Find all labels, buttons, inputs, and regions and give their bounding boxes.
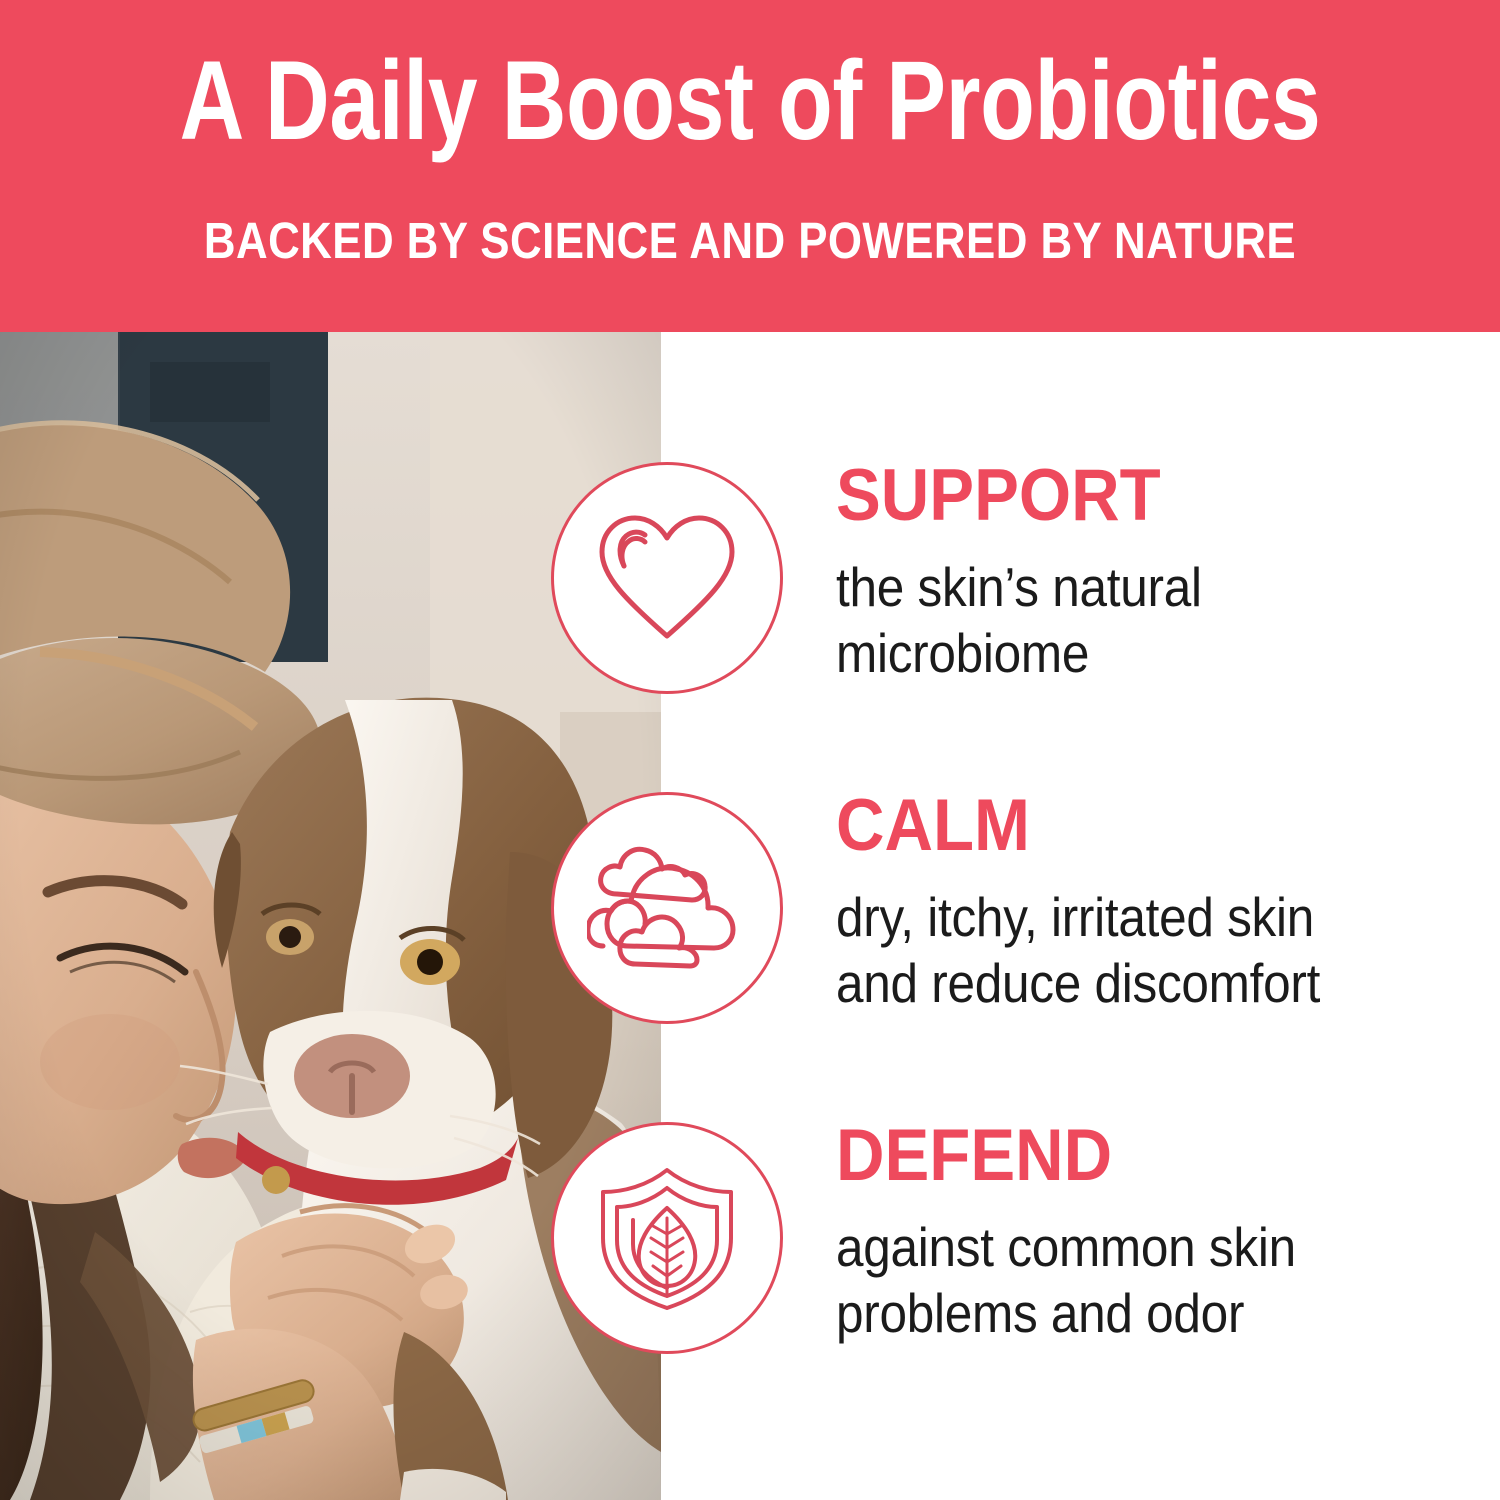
- benefit-text-calm: CALM dry, itchy, irritated skin and redu…: [836, 786, 1476, 1016]
- benefit-row-calm: CALM dry, itchy, irritated skin and redu…: [0, 786, 1500, 1036]
- benefit-row-support: SUPPORT the skin’s natural microbiome: [0, 456, 1500, 706]
- heart-icon-badge: [551, 462, 783, 694]
- page-subtitle: BACKED BY SCIENCE AND POWERED BY NATURE: [105, 212, 1395, 270]
- benefit-row-defend: DEFEND against common skin problems and …: [0, 1116, 1500, 1366]
- benefit-text-support: SUPPORT the skin’s natural microbiome: [836, 456, 1476, 686]
- probiotics-benefits-poster: A Daily Boost of Probiotics BACKED BY SC…: [0, 0, 1500, 1500]
- benefit-body-support: the skin’s natural microbiome: [836, 554, 1412, 686]
- benefit-heading-support: SUPPORT: [836, 456, 1425, 536]
- clouds-icon-badge: [551, 792, 783, 1024]
- benefit-body-defend: against common skin problems and odor: [836, 1214, 1412, 1346]
- shield-leaf-icon-badge: [551, 1122, 783, 1354]
- benefit-heading-calm: CALM: [836, 786, 1425, 866]
- benefit-body-calm: dry, itchy, irritated skin and reduce di…: [836, 884, 1412, 1016]
- header-banner: A Daily Boost of Probiotics BACKED BY SC…: [0, 0, 1500, 332]
- page-title: A Daily Boost of Probiotics: [150, 42, 1350, 160]
- benefit-heading-defend: DEFEND: [836, 1116, 1425, 1196]
- benefit-text-defend: DEFEND against common skin problems and …: [836, 1116, 1476, 1346]
